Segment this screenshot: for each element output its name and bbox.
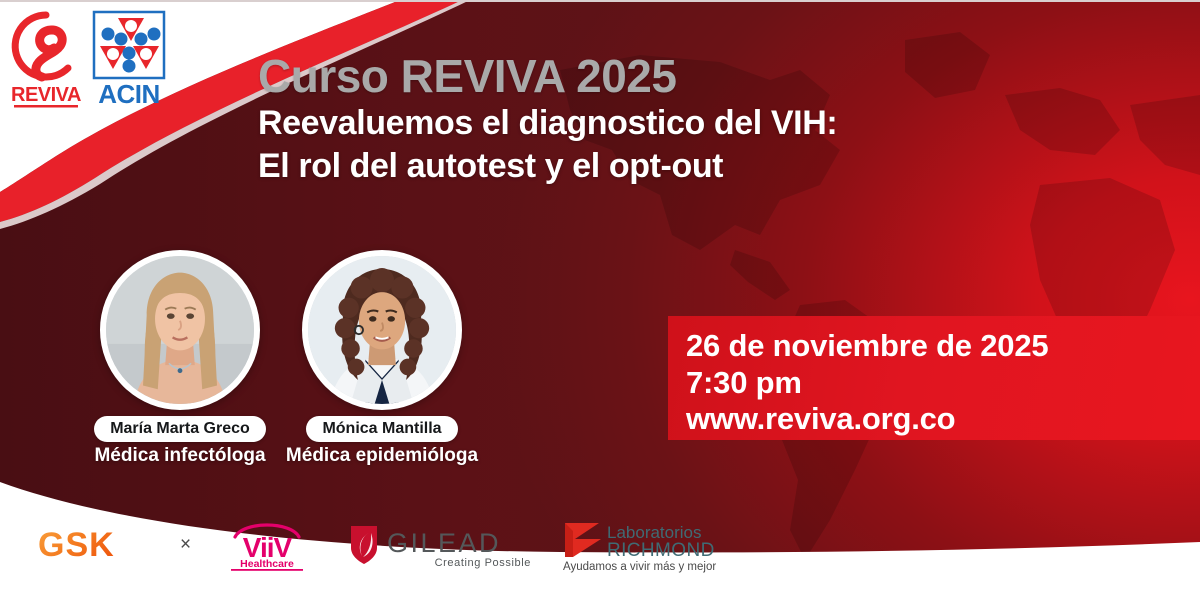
course-title: Curso REVIVA 2025 xyxy=(258,52,878,101)
event-date: 26 de noviembre de 2025 xyxy=(686,328,1200,365)
speaker-name: María Marta Greco xyxy=(94,416,266,442)
separator-symbol: × xyxy=(180,534,191,556)
speaker-role: Médica epidemióloga xyxy=(286,445,478,467)
sponsor-richmond: Laboratorios RICHMOND Ayudamos a vivir m… xyxy=(559,517,739,573)
subtitle-line-2: El rol del autotest y el opt-out xyxy=(258,146,878,187)
speaker-card: Mónica Mantilla Médica epidemióloga xyxy=(292,250,472,467)
richmond-r-icon xyxy=(565,523,601,557)
acin-wordmark: ACIN xyxy=(98,79,160,109)
event-time: 7:30 pm xyxy=(686,365,1200,402)
gilead-tagline: Creating Possible xyxy=(435,557,531,569)
reviva-logo: REVIVA xyxy=(8,8,84,112)
richmond-tagline: Ayudamos a vivir más y mejor xyxy=(563,561,716,573)
sponsor-separator: × xyxy=(180,534,191,556)
reviva-wordmark: REVIVA xyxy=(11,84,81,106)
heading-block: Curso REVIVA 2025 Reevaluemos el diagnos… xyxy=(258,52,878,188)
speaker-name: Mónica Mantilla xyxy=(306,416,457,442)
sponsors-row: GSK × ViiV Healthcare GIL xyxy=(0,490,700,600)
speaker-card: María Marta Greco Médica infectóloga xyxy=(90,250,270,467)
sponsor-gilead: GILEAD Creating Possible xyxy=(343,520,533,570)
avatar xyxy=(302,250,462,410)
avatar xyxy=(100,250,260,410)
event-details-block: 26 de noviembre de 2025 7:30 pm www.revi… xyxy=(668,316,1200,440)
acin-emblem-icon xyxy=(94,12,164,78)
gilead-shield-icon xyxy=(351,526,377,564)
sponsor-gsk: GSK xyxy=(36,525,154,565)
viiv-tagline: Healthcare xyxy=(240,558,294,570)
top-hairline-divider xyxy=(0,0,1200,2)
speakers-row: María Marta Greco Médica infectóloga xyxy=(90,250,472,467)
richmond-name-line2: RICHMOND xyxy=(607,540,715,561)
event-promo-banner: REVIVA AC xyxy=(0,0,1200,600)
event-website[interactable]: www.reviva.org.co xyxy=(686,401,1200,438)
reviva-ribbon-icon xyxy=(15,15,68,77)
subtitle-line-1: Reevaluemos el diagnostico del VIH: xyxy=(258,103,878,144)
sponsor-viiv: ViiV Healthcare xyxy=(217,519,317,571)
speaker-role: Médica infectóloga xyxy=(94,445,265,467)
gilead-wordmark: GILEAD xyxy=(387,528,501,558)
gsk-wordmark: GSK xyxy=(38,526,115,564)
acin-logo: ACIN xyxy=(88,8,170,112)
